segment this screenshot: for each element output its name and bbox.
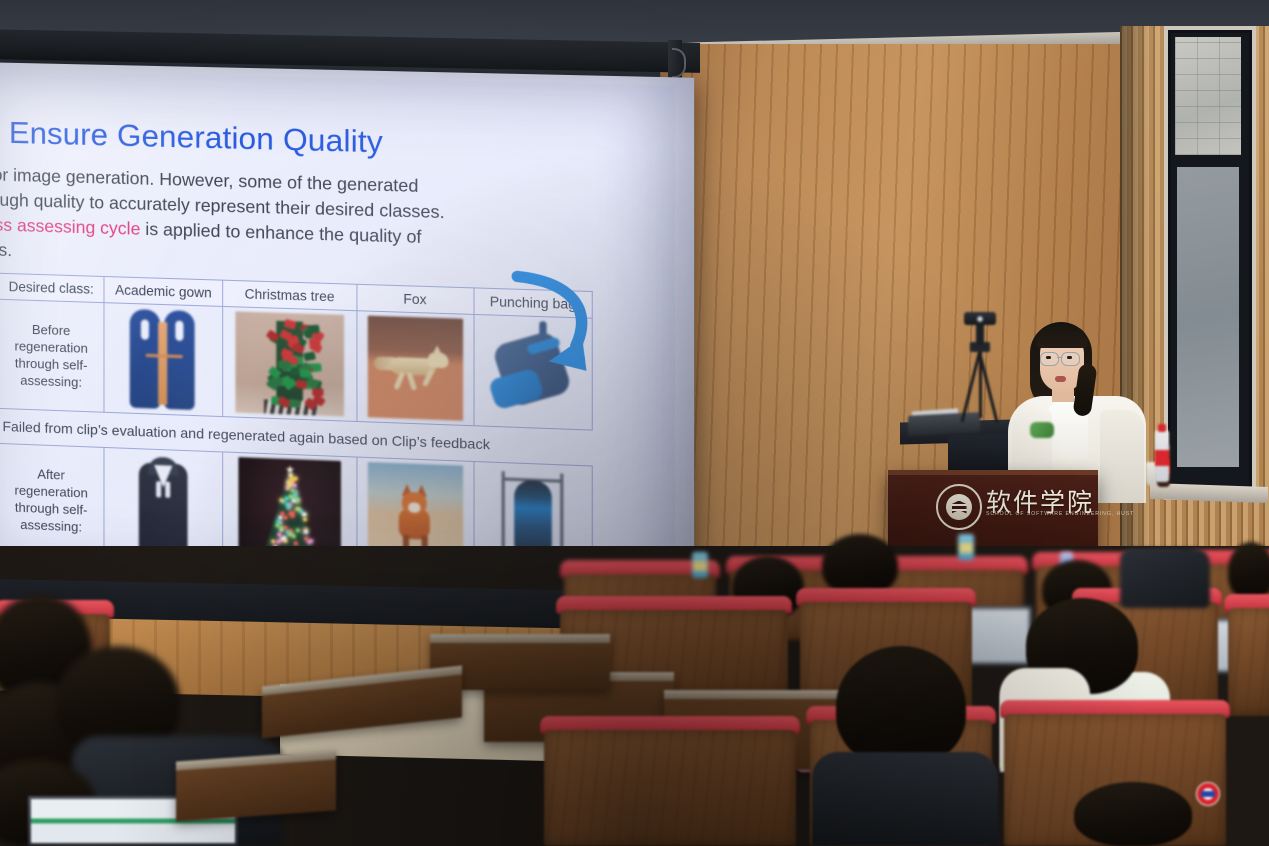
glasses-bridge-icon (1057, 357, 1061, 358)
glasses-lens-right-icon (1061, 352, 1080, 366)
highlighted-phrase: cross assessing cycle (0, 214, 140, 239)
blue-water-bottle (958, 534, 974, 560)
header-fox: Fox (356, 284, 473, 314)
slide-title: g to Ensure Generation Quality (0, 113, 656, 167)
cell-tree-before (223, 306, 357, 421)
window-lower-pane (1177, 167, 1239, 467)
school-emblem-icon (936, 484, 982, 530)
header-desired-class: Desired class: (0, 273, 104, 302)
student-head (1228, 542, 1269, 600)
table-row-before: Before regeneration through self- assess… (0, 299, 592, 430)
seat-mid-row[interactable] (1224, 594, 1269, 716)
speaker-fringe (1036, 326, 1088, 348)
image-academic-gown-distorted (130, 309, 197, 410)
row-label-before: Before regeneration through self- assess… (0, 299, 104, 412)
seat-sticker (1196, 782, 1220, 806)
cell-gown-after (104, 447, 223, 562)
speaker-shoulder-right (1100, 410, 1144, 503)
presentation-slide: g to Ensure Generation Quality LL-E for … (0, 69, 675, 613)
image-christmas-tree-distorted (235, 311, 344, 416)
speaker-eye (1046, 356, 1051, 359)
image-academic-gown-clean (132, 454, 195, 555)
window-upper-pane (1175, 37, 1241, 155)
seat-front-row[interactable] (540, 716, 800, 846)
lecture-hall-scene: g to Ensure Generation Quality LL-E for … (0, 0, 1269, 846)
student-head (1074, 782, 1192, 846)
cell-fox-before (356, 311, 473, 426)
header-academic-gown: Academic gown (104, 277, 223, 307)
blue-water-bottle (692, 552, 708, 578)
image-running-fox (367, 316, 462, 421)
row-label-line: assessing: (0, 515, 103, 537)
student-head (822, 534, 898, 596)
row-label-after: After regeneration through self- assessi… (0, 443, 104, 557)
red-cap-water-bottle (1155, 430, 1169, 482)
camera-lens-icon (976, 315, 984, 323)
camera-tripod (950, 312, 1010, 424)
cell-gown-before (104, 303, 223, 417)
speaker-mouth (1055, 376, 1066, 382)
glasses-lens-left-icon (1040, 352, 1059, 366)
student-head (836, 646, 966, 766)
student-torso (812, 752, 998, 846)
window-frame (1168, 30, 1252, 496)
podium-english-name: SCHOOL OF SOFTWARE ENGINEERING, HUST (986, 511, 1134, 517)
speaker-eye (1067, 356, 1072, 359)
comparison-table: Desired class: Academic gown Christmas t… (0, 273, 593, 579)
green-object-behind (1030, 422, 1054, 438)
wall-shadow (1120, 26, 1150, 606)
line3-post: is applied to enhance the quality of (140, 219, 421, 247)
projection-screen: g to Ensure Generation Quality LL-E for … (0, 62, 694, 618)
black-backpack (1120, 548, 1210, 608)
row-label-line: assessing: (0, 371, 103, 392)
student-desk (176, 750, 336, 821)
curved-blue-arrow-icon (511, 262, 605, 388)
